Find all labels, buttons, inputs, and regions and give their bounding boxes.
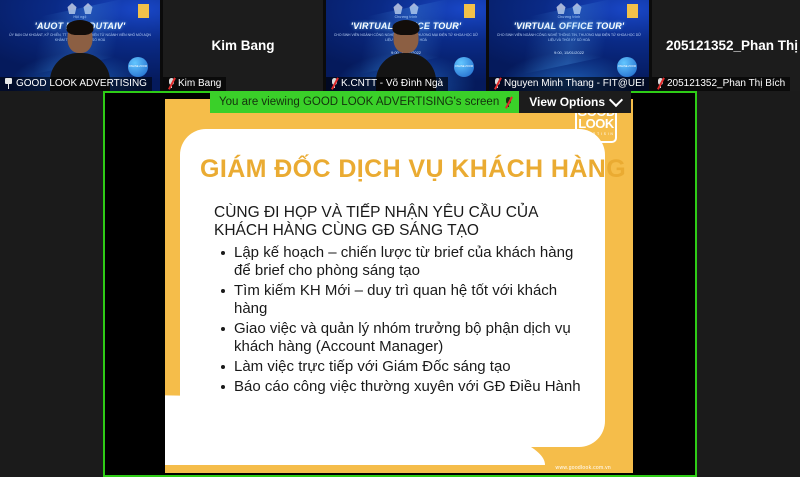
- participant-tile-good-look-advertising[interactable]: Hội ngộ 'AUOT ISTT DUTAIV' ỦY BẠN CM KHO…: [0, 0, 160, 91]
- chevron-down-icon: [609, 93, 623, 107]
- list-item: Giao việc và quản lý nhóm trưởng bộ phận…: [234, 320, 585, 356]
- list-item: Tìm kiếm KH Mới – duy trì quan hệ tốt vớ…: [234, 282, 585, 318]
- participant-name: 205121352_Phan Thị Bích: [667, 78, 785, 89]
- list-item: Lập kế hoạch – chiến lược từ brief của k…: [234, 244, 585, 280]
- slide-footer: www.goodlook.com.vn: [165, 447, 633, 473]
- participant-tile-k-cntt-vo-dinh-nga[interactable]: Chương trình 'VIRTUAL OFFICE TOUR' CHO S…: [326, 0, 486, 91]
- view-options-button[interactable]: View Options: [519, 91, 631, 113]
- poster-kicker: Chương trình: [489, 15, 649, 19]
- screen-share-banner: You are viewing GOOD LOOK ADVERTISING's …: [210, 91, 631, 113]
- mic-muted-icon: [504, 97, 512, 108]
- shared-screen-area: GOOD LOOK A D V E R T I S I N G GIÁM ĐỐC…: [103, 91, 697, 477]
- participant-display-name: 205121352_Phan Thị: [666, 38, 798, 53]
- participant-namebar: Nguyen Minh Thang - FIT@UEF: [489, 77, 649, 91]
- participant-namebar: GOOD LOOK ADVERTISING: [0, 77, 152, 91]
- banner-text: You are viewing GOOD LOOK ADVERTISING's …: [219, 96, 499, 108]
- mic-muted-icon: [330, 78, 338, 89]
- slide-title: GIÁM ĐỐC DỊCH VỤ KHÁCH HÀNG: [200, 155, 585, 184]
- poster-chip-icon: [464, 4, 475, 18]
- poster-logo-icons: [557, 3, 582, 14]
- participant-tile-nguyen-minh-thang[interactable]: Chương trình 'VIRTUAL OFFICE TOUR' CHO S…: [489, 0, 649, 91]
- mic-muted-icon: [656, 78, 664, 89]
- participant-tile-phan-thi-bich[interactable]: 205121352_Phan Thị 205121352_Phan Thị Bí…: [652, 0, 800, 91]
- poster-logo-icons: [394, 3, 419, 14]
- participant-namebar: K.CNTT - Võ Đình Ngà: [326, 77, 448, 91]
- slide-bullet-list: Lập kế hoạch – chiến lược từ brief của k…: [200, 244, 585, 396]
- participant-name: Kim Bang: [178, 78, 221, 89]
- participant-name: K.CNTT - Võ Đình Ngà: [341, 78, 443, 89]
- poster-date: 9:00, 15/01/2022: [489, 50, 649, 55]
- participant-namebar: 205121352_Phan Thị Bích: [652, 77, 790, 91]
- poster-subtitle: CHO SINH VIÊN NGÀNH CÔNG NGHỆ THÔNG TIN,…: [493, 33, 645, 43]
- participant-tile-kim-bang[interactable]: Kim Bang Kim Bang: [163, 0, 323, 91]
- list-item: Làm việc trực tiếp với Giám Đốc sáng tạo: [234, 358, 585, 376]
- poster-chip-icon: [627, 4, 638, 18]
- poster-logo-icons: [68, 3, 93, 14]
- logo-line-2: LOOK: [578, 118, 614, 130]
- poster-badge: ONLINE ZOOM: [128, 57, 148, 77]
- poster-badge: ONLINE ZOOM: [454, 57, 474, 77]
- participant-filmstrip: Hội ngộ 'AUOT ISTT DUTAIV' ỦY BẠN CM KHO…: [0, 0, 800, 91]
- presentation-slide: GOOD LOOK A D V E R T I S I N G GIÁM ĐỐC…: [165, 99, 633, 473]
- poster-title: 'VIRTUAL OFFICE TOUR': [489, 21, 649, 31]
- slide-lead-text: CÙNG ĐI HỌP VÀ TIẾP NHẬN YÊU CẦU CỦA KHÁ…: [214, 204, 585, 241]
- participant-namebar: Kim Bang: [163, 77, 226, 91]
- screen-share-message: You are viewing GOOD LOOK ADVERTISING's …: [210, 91, 519, 113]
- mic-muted-icon: [493, 78, 501, 89]
- footer-url: www.goodlook.com.vn: [556, 465, 611, 471]
- participant-name: GOOD LOOK ADVERTISING: [16, 78, 147, 89]
- participant-display-name: Kim Bang: [211, 38, 274, 53]
- mic-muted-icon: [167, 78, 175, 89]
- list-item: Báo cáo công việc thường xuyên với GĐ Đi…: [234, 378, 585, 396]
- pin-icon: [4, 78, 13, 89]
- poster-chip-icon: [138, 4, 149, 18]
- view-options-label: View Options: [529, 95, 605, 109]
- poster-badge: ONLINE ZOOM: [617, 57, 637, 77]
- participant-name: Nguyen Minh Thang - FIT@UEF: [504, 78, 644, 89]
